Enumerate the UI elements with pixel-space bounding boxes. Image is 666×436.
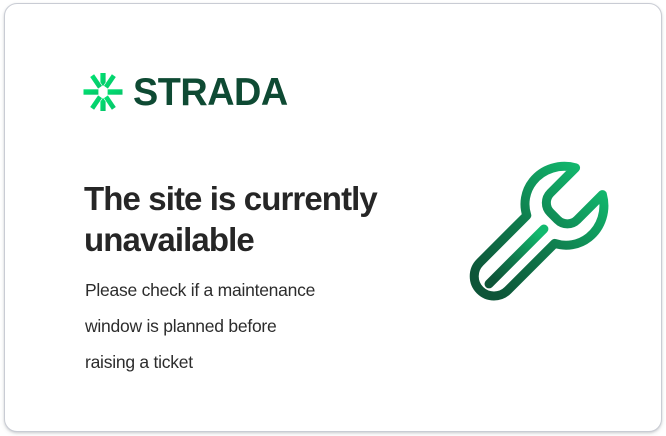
description-line: window is planned before — [85, 308, 405, 344]
wrench-icon — [457, 154, 623, 316]
description-line: raising a ticket — [85, 344, 405, 380]
page-title: The site is currently unavailable — [84, 178, 414, 260]
description-line: Please check if a maintenance — [85, 272, 405, 308]
status-card: STRADA The site is currently unavailable… — [4, 3, 662, 432]
brand-logo: STRADA — [82, 71, 293, 113]
maintenance-page: STRADA The site is currently unavailable… — [0, 0, 666, 436]
strada-asterisk-icon — [82, 71, 124, 113]
brand-wordmark: STRADA — [133, 73, 288, 112]
page-description: Please check if a maintenance window is … — [85, 272, 405, 380]
